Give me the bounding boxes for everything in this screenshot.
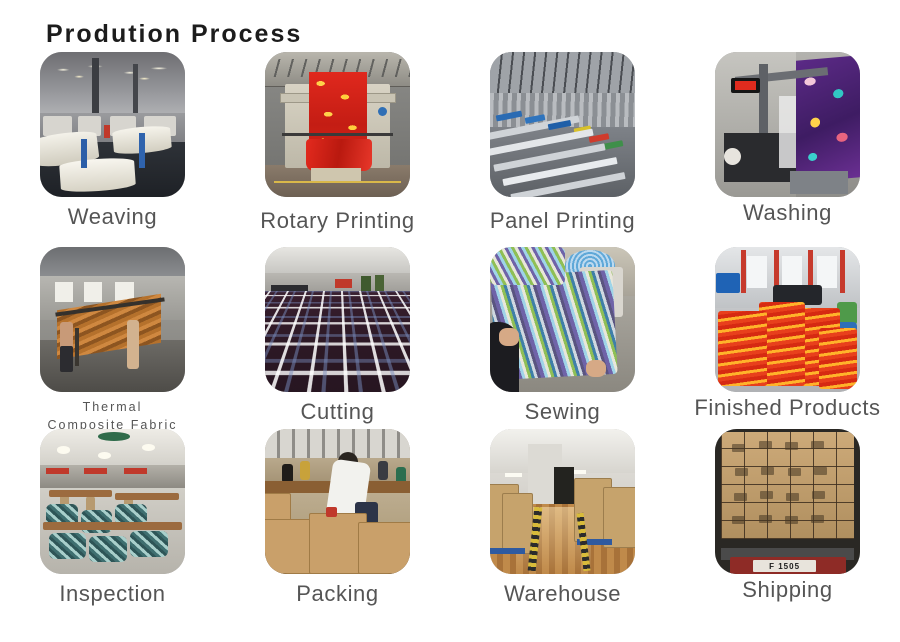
warehouse-image	[490, 429, 635, 574]
cutting-thumbnail[interactable]	[265, 247, 410, 392]
process-row-3: Inspection Packing	[0, 429, 900, 627]
production-process-page: Prodution Process Weaving	[0, 0, 900, 642]
packing-label: Packing	[296, 581, 378, 607]
weaving-label: Weaving	[68, 204, 157, 230]
process-row-1: Weaving Rotary Printing	[0, 52, 900, 247]
warehouse-thumbnail[interactable]	[490, 429, 635, 574]
thermal-label-line-1: Thermal	[48, 398, 178, 416]
process-item-inspection[interactable]: Inspection	[0, 429, 225, 627]
inspection-label: Inspection	[59, 581, 165, 607]
shipping-image: F 1505	[715, 429, 860, 574]
process-item-shipping[interactable]: F 1505 Shipping	[675, 429, 900, 627]
thermal-composite-fabric-thumbnail[interactable]	[40, 247, 185, 392]
washing-label: Washing	[743, 200, 832, 226]
packing-thumbnail[interactable]	[265, 429, 410, 574]
finished-products-thumbnail[interactable]	[715, 247, 860, 392]
process-item-weaving[interactable]: Weaving	[0, 52, 225, 247]
panel-printing-image	[490, 52, 635, 197]
cutting-label: Cutting	[301, 399, 375, 425]
process-item-cutting[interactable]: Cutting	[225, 247, 450, 429]
process-item-thermal-composite-fabric[interactable]: Thermal Composite Fabric	[0, 247, 225, 429]
rotary-printing-image	[265, 52, 410, 197]
process-item-washing[interactable]: Washing	[675, 52, 900, 247]
panel-printing-label: Panel Printing	[490, 208, 635, 234]
shipping-thumbnail[interactable]: F 1505	[715, 429, 860, 574]
process-item-finished-products[interactable]: Finished Products	[675, 247, 900, 429]
cutting-image	[265, 247, 410, 392]
process-item-panel-printing[interactable]: Panel Printing	[450, 52, 675, 247]
page-title: Prodution Process	[46, 21, 302, 47]
packing-image	[265, 429, 410, 574]
washing-image	[715, 52, 860, 197]
warehouse-label: Warehouse	[504, 581, 621, 607]
thermal-composite-fabric-image	[40, 247, 185, 392]
rotary-printing-thumbnail[interactable]	[265, 52, 410, 197]
weaving-thumbnail[interactable]	[40, 52, 185, 197]
washing-thumbnail[interactable]	[715, 52, 860, 197]
sewing-thumbnail[interactable]	[490, 247, 635, 392]
process-row-2: Thermal Composite Fabric Cutting	[0, 247, 900, 429]
rotary-printing-label: Rotary Printing	[260, 208, 415, 234]
process-grid: Weaving Rotary Printing	[0, 52, 900, 627]
sewing-image	[490, 247, 635, 392]
sewing-label: Sewing	[525, 399, 601, 425]
process-item-sewing[interactable]: Sewing	[450, 247, 675, 429]
process-item-warehouse[interactable]: Warehouse	[450, 429, 675, 627]
process-item-packing[interactable]: Packing	[225, 429, 450, 627]
process-item-rotary-printing[interactable]: Rotary Printing	[225, 52, 450, 247]
shipping-label: Shipping	[742, 577, 832, 603]
inspection-thumbnail[interactable]	[40, 429, 185, 574]
shipping-plate-number: F 1505	[753, 560, 817, 572]
panel-printing-thumbnail[interactable]	[490, 52, 635, 197]
finished-products-label: Finished Products	[694, 395, 880, 421]
weaving-image	[40, 52, 185, 197]
finished-products-image	[715, 247, 860, 392]
inspection-image	[40, 429, 185, 574]
